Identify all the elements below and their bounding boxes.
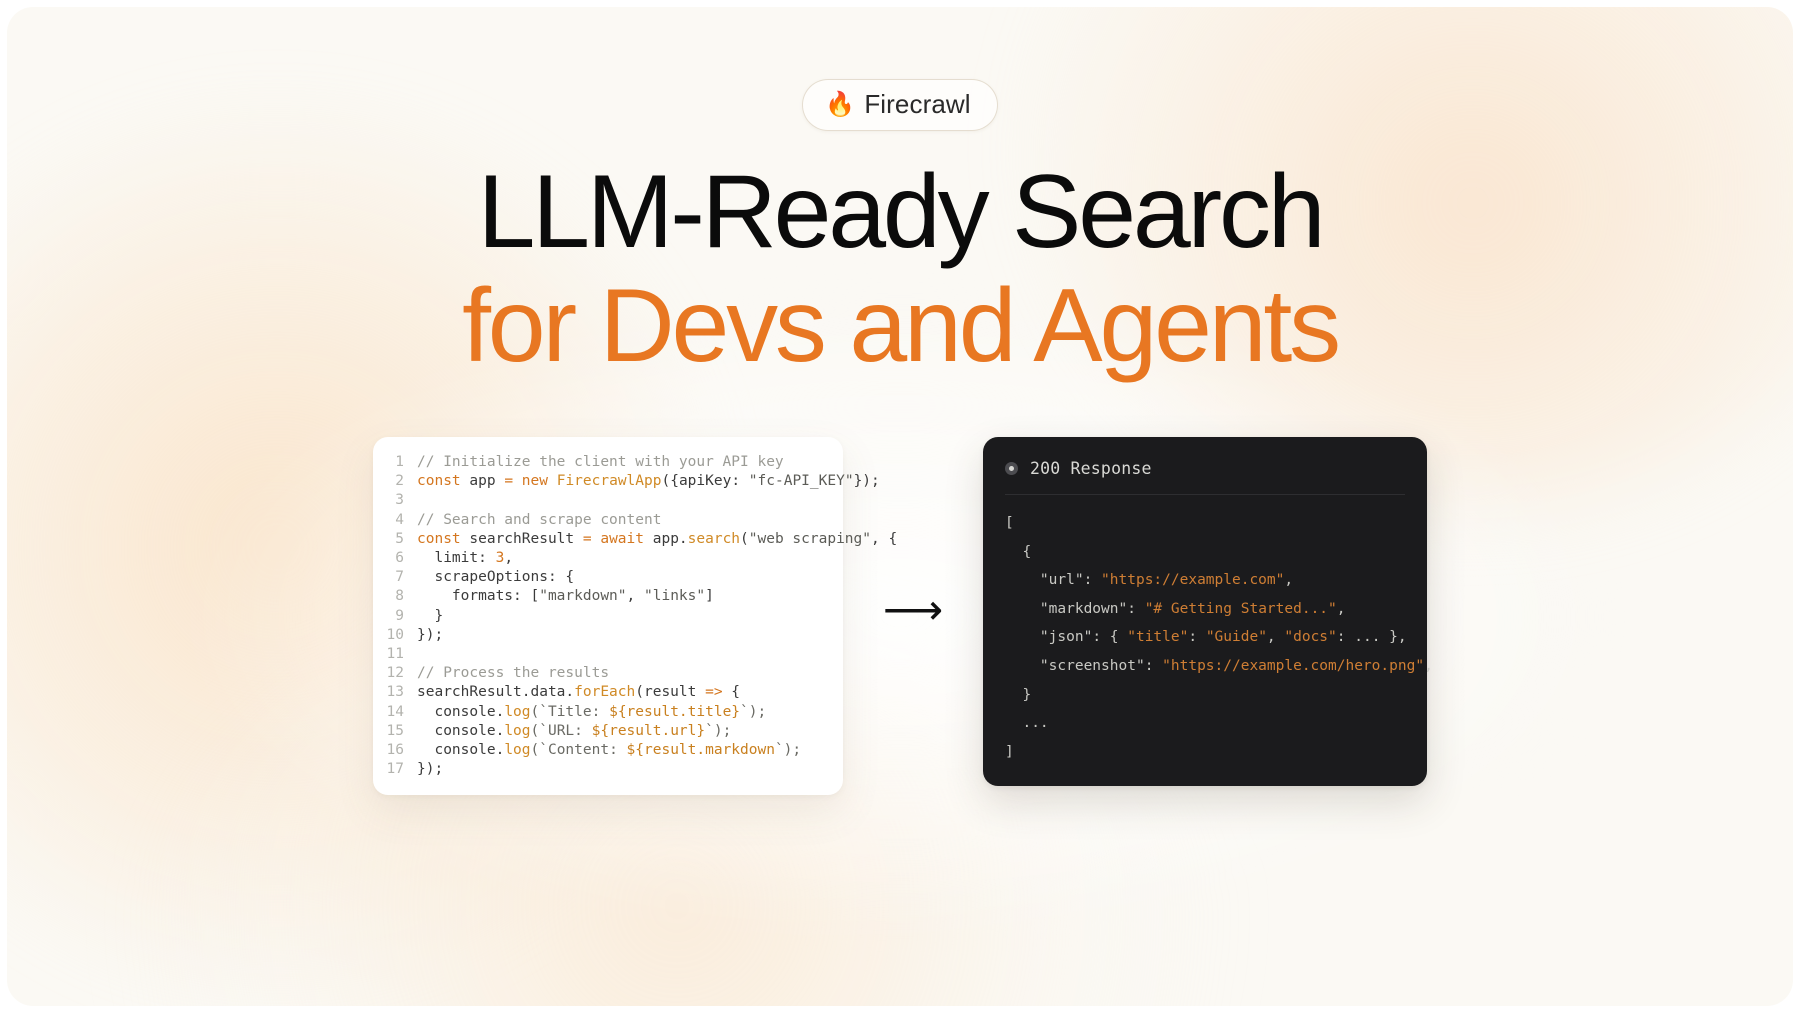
code-token: searchResult (461, 531, 583, 547)
json-token (1005, 629, 1040, 645)
code-token: ] (705, 588, 714, 604)
code-token: `); (775, 742, 801, 758)
code-line: 13searchResult.data.forEach(result => { (373, 683, 843, 702)
json-token: "markdown" (1040, 601, 1127, 617)
code-token: ${result.title} (609, 704, 740, 720)
code-line-number: 11 (373, 645, 417, 664)
code-line-number: 13 (373, 683, 417, 702)
code-line: 1// Initialize the client with your API … (373, 453, 843, 472)
code-line-content: formats: ["markdown", "links"] (417, 587, 714, 606)
json-token: : (1084, 572, 1101, 588)
code-token: const (417, 531, 461, 547)
code-line: 2const app = new FirecrawlApp({apiKey: "… (373, 472, 843, 491)
code-line-number: 10 (373, 626, 417, 645)
code-line-content: }); (417, 626, 443, 645)
json-response-body: [ { "url": "https://example.com", "markd… (983, 509, 1427, 766)
json-token: : (1188, 629, 1205, 645)
code-line: 3 (373, 491, 843, 510)
json-line: ... (1005, 709, 1405, 738)
json-token: "https://example.com/hero.png" (1162, 658, 1424, 674)
code-token: await (600, 531, 644, 547)
json-token (1005, 658, 1040, 674)
code-token: console. (417, 704, 504, 720)
code-line-number: 5 (373, 530, 417, 549)
code-line-number: 16 (373, 741, 417, 760)
code-line-content: }); (417, 760, 443, 779)
code-token: = (583, 531, 592, 547)
code-line-content: const app = new FirecrawlApp({apiKey: "f… (417, 472, 880, 491)
code-line: 4// Search and scrape content (373, 511, 843, 530)
json-token: , (1424, 658, 1433, 674)
json-token: "# Getting Started..." (1145, 601, 1337, 617)
page-title: LLM-Ready Search for Devs and Agents (7, 159, 1793, 379)
json-token: "screenshot" (1040, 658, 1145, 674)
json-line: ] (1005, 738, 1405, 767)
status-indicator-icon (1005, 462, 1018, 475)
code-token: , (627, 588, 644, 604)
code-token: }); (854, 473, 880, 489)
json-token: : { (1092, 629, 1127, 645)
code-token: `); (705, 723, 731, 739)
code-token: , { (871, 531, 897, 547)
json-token: ] (1005, 744, 1014, 760)
json-line: [ (1005, 509, 1405, 538)
code-token: , (504, 550, 513, 566)
code-token: { (723, 684, 740, 700)
code-line: 15 console.log(`URL: ${result.url}`); (373, 722, 843, 741)
code-line-content: console.log(`Title: ${result.title}`); (417, 703, 766, 722)
code-line-content: searchResult.data.forEach(result => { (417, 683, 740, 702)
code-line-number: 12 (373, 664, 417, 683)
json-token: "url" (1040, 572, 1084, 588)
json-line: "json": { "title": "Guide", "docs": ... … (1005, 623, 1405, 652)
json-token: ... (1005, 715, 1049, 731)
flame-icon: 🔥 (825, 93, 855, 117)
code-token: "fc-API_KEY" (749, 473, 854, 489)
code-line: 10}); (373, 626, 843, 645)
code-line-number: 15 (373, 722, 417, 741)
code-line-number: 4 (373, 511, 417, 530)
code-token: limit: (417, 550, 496, 566)
response-divider (1005, 494, 1405, 495)
json-token: [ (1005, 515, 1014, 531)
code-line-content: const searchResult = await app.search("w… (417, 530, 897, 549)
json-token: "json" (1040, 629, 1092, 645)
json-line: "markdown": "# Getting Started...", (1005, 595, 1405, 624)
page-title-line-1: LLM-Ready Search (7, 159, 1793, 265)
api-response-panel[interactable]: 200 Response [ { "url": "https://example… (983, 437, 1427, 786)
code-token: // Search and scrape content (417, 512, 661, 528)
code-line-content: console.log(`Content: ${result.markdown`… (417, 741, 801, 760)
code-token: 3 (496, 550, 505, 566)
code-token: = (504, 473, 513, 489)
code-token: console. (417, 723, 504, 739)
code-line: 14 console.log(`Title: ${result.title}`)… (373, 703, 843, 722)
code-token (513, 473, 522, 489)
code-token (548, 473, 557, 489)
code-token: (`URL: (531, 723, 592, 739)
json-line: { (1005, 538, 1405, 567)
code-line: 5const searchResult = await app.search("… (373, 530, 843, 549)
json-token: } (1005, 687, 1031, 703)
json-token (1005, 572, 1040, 588)
json-token: "Guide" (1206, 629, 1267, 645)
json-token: , (1267, 629, 1284, 645)
code-line-number: 3 (373, 491, 417, 510)
code-line-number: 9 (373, 607, 417, 626)
code-token: formats: [ (417, 588, 539, 604)
json-token: "docs" (1284, 629, 1336, 645)
page-title-line-2: for Devs and Agents (7, 273, 1793, 379)
code-line-number: 17 (373, 760, 417, 779)
code-line: 7 scrapeOptions: { (373, 568, 843, 587)
code-token: searchResult.data. (417, 684, 574, 700)
json-line: "url": "https://example.com", (1005, 566, 1405, 595)
code-snippet-panel[interactable]: 1// Initialize the client with your API … (373, 437, 843, 795)
code-token: ({apiKey: (661, 473, 748, 489)
response-header: 200 Response (983, 453, 1427, 494)
code-token: (result (635, 684, 705, 700)
code-token: }); (417, 627, 443, 643)
code-token: console. (417, 742, 504, 758)
code-token: (`Title: (531, 704, 610, 720)
code-token: } (417, 608, 443, 624)
code-token: `); (740, 704, 766, 720)
hero-stage: 🔥 Firecrawl LLM-Ready Search for Devs an… (7, 7, 1793, 1006)
code-token: FirecrawlApp (557, 473, 662, 489)
code-line-number: 1 (373, 453, 417, 472)
json-token: , (1284, 572, 1293, 588)
status-badge: 200 Response (1030, 459, 1152, 478)
code-token: log (504, 742, 530, 758)
code-token: ( (740, 531, 749, 547)
code-line-number: 14 (373, 703, 417, 722)
json-token: { (1005, 544, 1031, 560)
json-token: : (1127, 601, 1144, 617)
code-token: // Process the results (417, 665, 609, 681)
code-line-content: limit: 3, (417, 549, 513, 568)
code-line-number: 6 (373, 549, 417, 568)
badge-row: 🔥 Firecrawl (7, 79, 1793, 131)
code-line: 6 limit: 3, (373, 549, 843, 568)
code-token: log (504, 723, 530, 739)
code-token: scrapeOptions: { (417, 569, 574, 585)
code-line: 11 (373, 645, 843, 664)
code-token: "links" (644, 588, 705, 604)
code-token: }); (417, 761, 443, 777)
code-token: new (522, 473, 548, 489)
code-token: const (417, 473, 461, 489)
json-token: "title" (1127, 629, 1188, 645)
code-line: 12// Process the results (373, 664, 843, 683)
code-line: 16 console.log(`Content: ${result.markdo… (373, 741, 843, 760)
code-token: (`Content: (531, 742, 627, 758)
code-token: "markdown" (539, 588, 626, 604)
code-token: ${result.markdown (627, 742, 775, 758)
json-token: "https://example.com" (1101, 572, 1284, 588)
code-line: 17}); (373, 760, 843, 779)
code-line-number: 2 (373, 472, 417, 491)
code-line-content: scrapeOptions: { (417, 568, 574, 587)
panels-row: 1// Initialize the client with your API … (7, 437, 1793, 795)
json-token: , (1337, 601, 1346, 617)
json-line: "screenshot": "https://example.com/hero.… (1005, 652, 1405, 681)
code-lines: 1// Initialize the client with your API … (373, 453, 843, 779)
code-line-content: console.log(`URL: ${result.url}`); (417, 722, 731, 741)
code-token: log (504, 704, 530, 720)
json-line: } (1005, 681, 1405, 710)
code-line-content: // Process the results (417, 664, 609, 683)
code-token: app (461, 473, 505, 489)
code-line: 9 } (373, 607, 843, 626)
json-token: : (1145, 658, 1162, 674)
code-token: search (688, 531, 740, 547)
code-line-content: // Initialize the client with your API k… (417, 453, 784, 472)
code-token: // Initialize the client with your API k… (417, 454, 784, 470)
code-line-number: 8 (373, 587, 417, 606)
code-token: app. (644, 531, 688, 547)
code-line-content: // Search and scrape content (417, 511, 661, 530)
code-token: ${result.url} (592, 723, 706, 739)
brand-badge-label: Firecrawl (864, 89, 970, 120)
brand-badge[interactable]: 🔥 Firecrawl (802, 79, 997, 131)
code-line-number: 7 (373, 568, 417, 587)
code-token: "web scraping" (749, 531, 871, 547)
code-token: => (705, 684, 722, 700)
json-token: : ... }, (1337, 629, 1407, 645)
code-line-content: } (417, 607, 443, 626)
code-token: forEach (574, 684, 635, 700)
json-token (1005, 601, 1040, 617)
code-line: 8 formats: ["markdown", "links"] (373, 587, 843, 606)
